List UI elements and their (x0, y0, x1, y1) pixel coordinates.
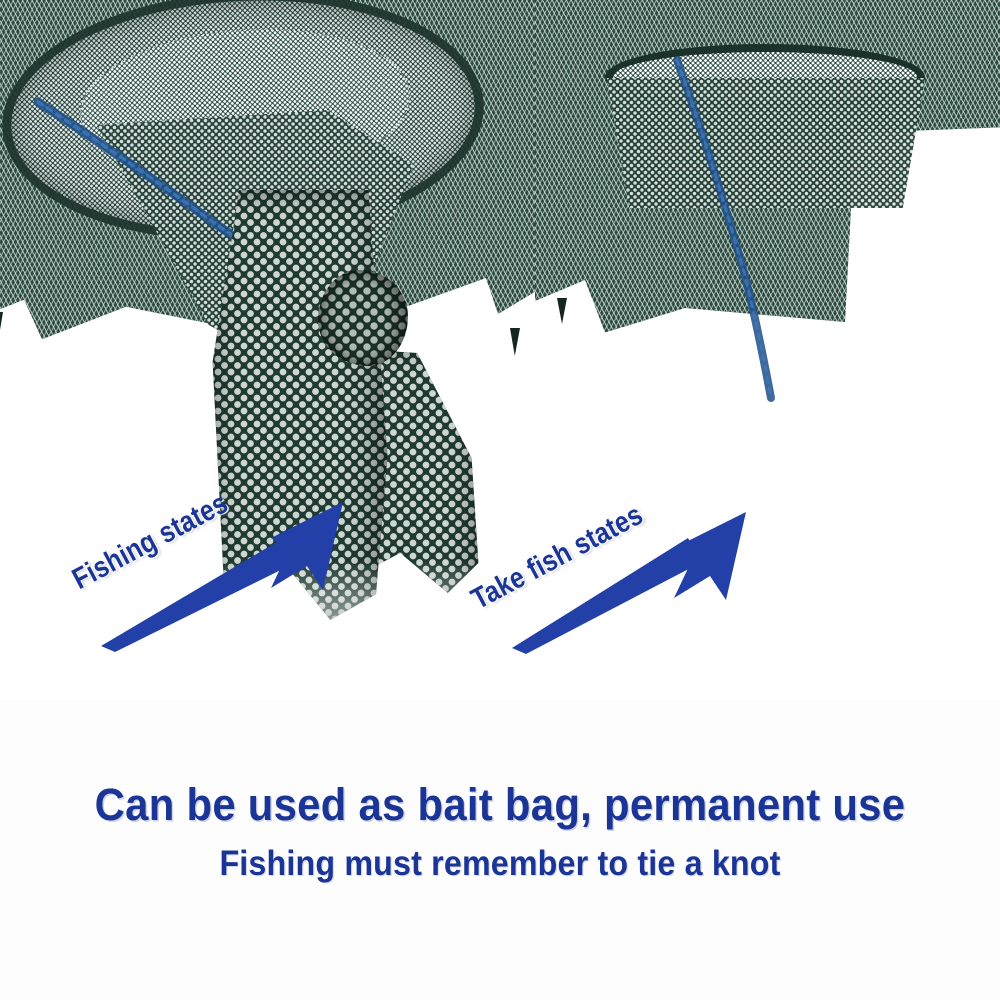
caption-line-secondary: Fishing must remember to tie a knot (40, 844, 960, 883)
annotation-fishing-states: Fishing states (75, 480, 375, 655)
net-support-tab (557, 298, 567, 324)
annotation-take-fish-states: Take fish states (470, 480, 770, 655)
net-knot (318, 270, 408, 366)
net-neck-right (607, 78, 925, 208)
caption-line-primary: Can be used as bait bag, permanent use (35, 780, 965, 830)
caption-block: Can be used as bait bag, permanent use F… (0, 780, 1000, 884)
net-support-tab (0, 312, 3, 338)
net-support-tab (510, 328, 520, 356)
infographic-canvas: Fishing states Take fish states Can be u… (0, 0, 1000, 1000)
fishing-net-open (535, 0, 1000, 366)
